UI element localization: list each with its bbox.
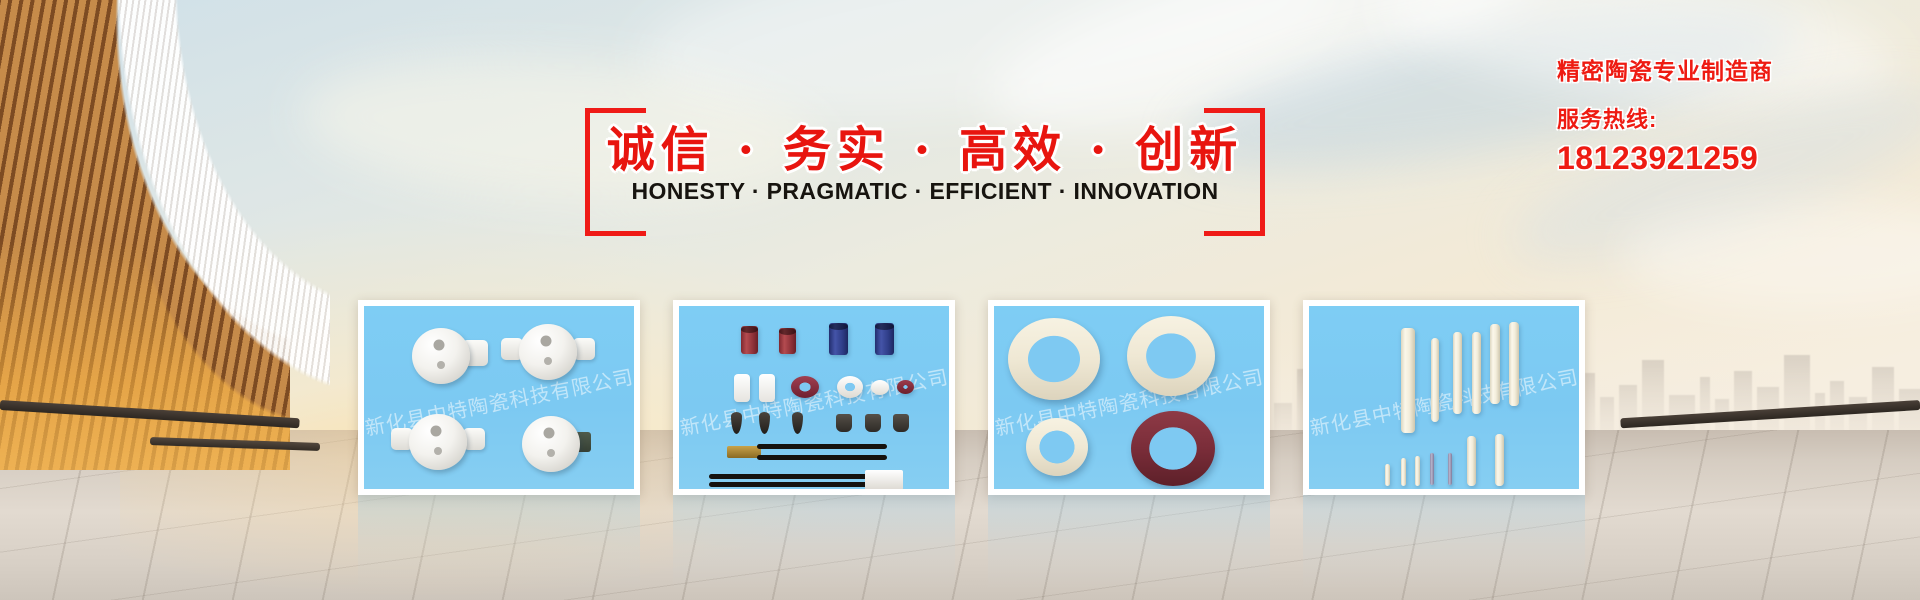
product-panel-row: 新化县中特陶瓷科技有限公司 新化县中特陶瓷科技有限公司 新化县中特陶瓷科技有限公… [358, 300, 1585, 495]
ceramic-rod [1453, 332, 1462, 414]
ceramic-plate [734, 374, 750, 402]
slogan-block: 诚信 · 务实 · 高效 · 创新 HONESTY · PRAGMATIC · … [585, 108, 1265, 226]
ceramic-rod [1490, 324, 1500, 404]
promotional-banner: 诚信 · 务实 · 高效 · 创新 HONESTY · PRAGMATIC · … [0, 0, 1920, 600]
ceramic-insulator-tube [829, 323, 848, 355]
ceramic-ring-maroon [1131, 411, 1215, 486]
contact-block: 精密陶瓷专业制造商 服务热线: 18123921259 [1557, 52, 1897, 177]
metal-clip [865, 414, 881, 432]
ceramic-rod-short [1385, 464, 1390, 486]
ceramic-rod-short [1401, 458, 1406, 486]
ceramic-rod-violet [1448, 453, 1452, 485]
black-wire [757, 444, 887, 449]
left-curved-architecture [0, 0, 330, 470]
metal-clip [893, 414, 909, 432]
metal-contact-pin [759, 412, 770, 434]
brass-connector [727, 446, 761, 458]
slogan-english: HONESTY · PRAGMATIC · EFFICIENT · INNOVA… [585, 178, 1265, 205]
product-panel-lamp-holders[interactable]: 新化县中特陶瓷科技有限公司 [358, 300, 640, 495]
ceramic-ring-small [1026, 418, 1088, 476]
ceramic-rod-short [1467, 436, 1476, 486]
company-tagline: 精密陶瓷专业制造商 [1557, 52, 1897, 86]
ceramic-lamp-holder [412, 328, 470, 384]
ceramic-rod [1472, 332, 1481, 414]
metal-contact-pin [792, 412, 803, 434]
ceramic-rod [1431, 338, 1439, 422]
ceramic-rod-short [1495, 434, 1504, 486]
ceramic-insulator-tube [741, 326, 758, 354]
ceramic-rod-short [1415, 456, 1420, 486]
ceramic-ring-large [1008, 318, 1100, 400]
hotline-phone-number[interactable]: 18123921259 [1557, 140, 1897, 177]
product-panel-electrical-components[interactable]: 新化县中特陶瓷科技有限公司 [673, 300, 955, 495]
black-wire [709, 482, 869, 487]
ceramic-rod [1509, 322, 1519, 406]
ceramic-washer-maroon [897, 380, 914, 394]
product-panel-ceramic-rings[interactable]: 新化县中特陶瓷科技有限公司 [988, 300, 1270, 495]
ceramic-insulator-tube [875, 323, 894, 355]
ceramic-rod [1401, 328, 1415, 433]
ceramic-lamp-holder [522, 416, 580, 472]
product-panel-ceramic-rods[interactable]: 新化县中特陶瓷科技有限公司 [1303, 300, 1585, 495]
black-wire [757, 455, 887, 460]
ceramic-plate [759, 374, 775, 402]
white-connector [865, 470, 903, 489]
ceramic-insulator-tube [779, 328, 796, 354]
metal-clip [836, 414, 852, 432]
panel-watermark: 新化县中特陶瓷科技有限公司 [679, 361, 949, 442]
ceramic-rod-violet [1430, 453, 1434, 485]
ceramic-ring-maroon [791, 376, 819, 398]
slogan-chinese: 诚信 · 务实 · 高效 · 创新 [585, 110, 1265, 180]
panel-watermark: 新化县中特陶瓷科技有限公司 [1309, 361, 1579, 442]
metal-contact-pin [731, 412, 742, 434]
ceramic-ring-white [837, 376, 863, 398]
black-wire [709, 474, 869, 479]
white-sweeping-curve [0, 0, 330, 470]
ceramic-ring-large [1127, 316, 1215, 396]
ceramic-lamp-holder [519, 324, 577, 380]
ceramic-washer-white [871, 380, 889, 395]
hotline-label: 服务热线: [1557, 102, 1897, 134]
ceramic-lamp-holder [409, 414, 467, 470]
